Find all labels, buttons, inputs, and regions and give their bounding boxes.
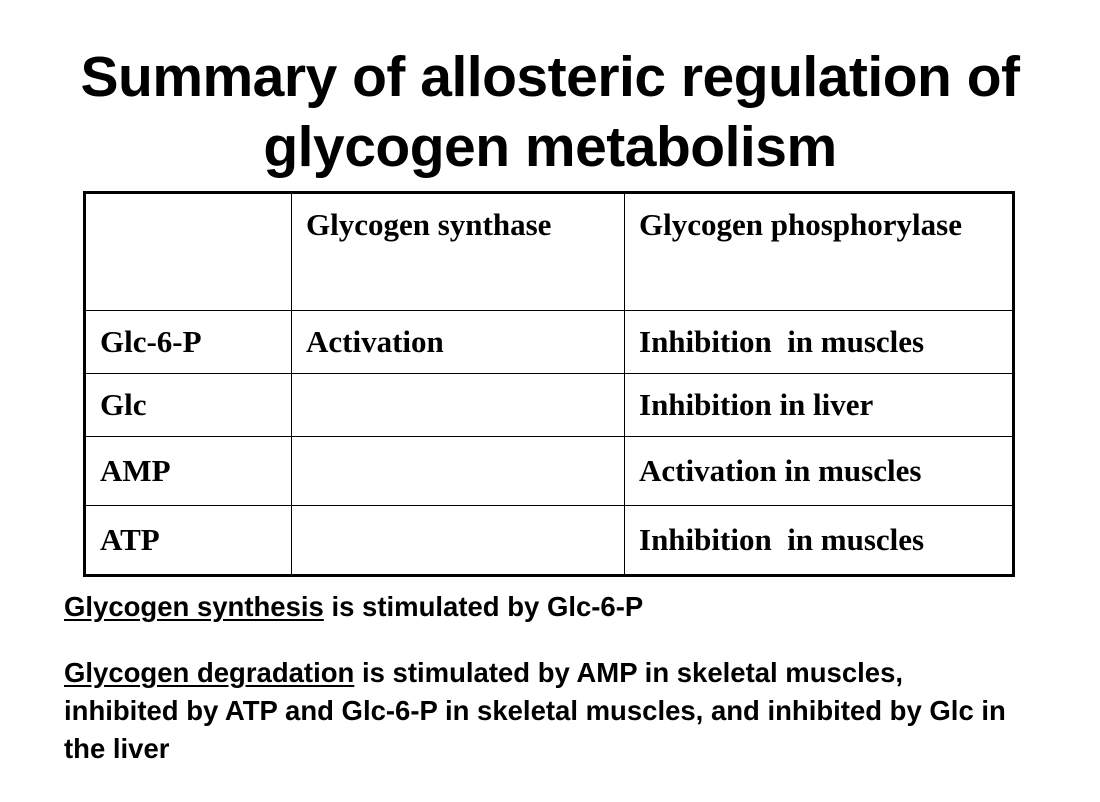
summary-notes: Glycogen synthesis is stimulated by Glc-…	[64, 588, 1024, 768]
table-row: ATP Inhibition in muscles	[85, 506, 1014, 576]
cell-phosphorylase: Inhibition in liver	[625, 374, 1014, 437]
cell-synthase: Activation	[292, 311, 625, 374]
table-header-cell-phosphorylase: Glycogen phosphorylase	[625, 193, 1014, 311]
cell-phosphorylase: Inhibition in muscles	[625, 311, 1014, 374]
cell-effector: AMP	[85, 437, 292, 506]
cell-effector: Glc-6-P	[85, 311, 292, 374]
note-synthesis-text: is stimulated by Glc-6-P	[324, 591, 643, 622]
table-row: AMP Activation in muscles	[85, 437, 1014, 506]
table-header-cell-effector	[85, 193, 292, 311]
note-degradation-emphasis: Glycogen degradation	[64, 657, 354, 688]
cell-effector: Glc	[85, 374, 292, 437]
page-title: Summary of allosteric regulation of glyc…	[0, 42, 1100, 182]
table-row: Glc Inhibition in liver	[85, 374, 1014, 437]
note-synthesis: Glycogen synthesis is stimulated by Glc-…	[64, 588, 1024, 626]
note-synthesis-emphasis: Glycogen synthesis	[64, 591, 324, 622]
cell-phosphorylase: Inhibition in muscles	[625, 506, 1014, 576]
cell-effector: ATP	[85, 506, 292, 576]
cell-synthase	[292, 374, 625, 437]
cell-phosphorylase: Activation in muscles	[625, 437, 1014, 506]
cell-synthase	[292, 506, 625, 576]
cell-synthase	[292, 437, 625, 506]
table-header-row: Glycogen synthase Glycogen phosphorylase	[85, 193, 1014, 311]
table-header-cell-synthase: Glycogen synthase	[292, 193, 625, 311]
table-row: Glc-6-P Activation Inhibition in muscles	[85, 311, 1014, 374]
note-degradation: Glycogen degradation is stimulated by AM…	[64, 654, 1024, 768]
regulation-table: Glycogen synthase Glycogen phosphorylase…	[83, 191, 1015, 577]
regulation-table-container: Glycogen synthase Glycogen phosphorylase…	[83, 191, 1012, 577]
